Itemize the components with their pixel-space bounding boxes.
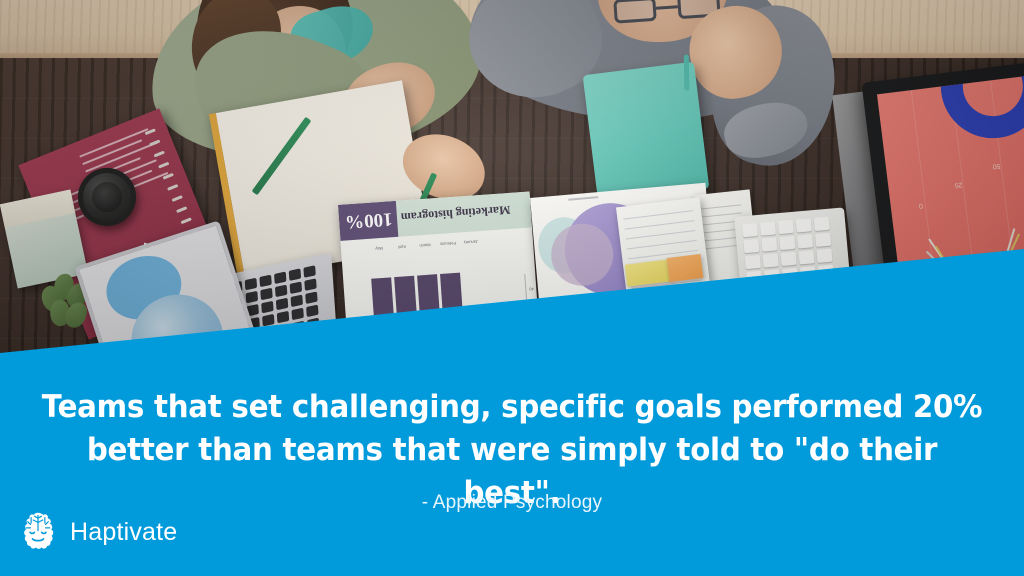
teal-notebook	[583, 62, 710, 203]
brain-smiling-icon	[16, 510, 60, 554]
histogram-x-labels: May April March February January	[369, 239, 481, 252]
orange-sticky-note	[667, 254, 704, 282]
histogram-title: Marketing histogram	[400, 202, 510, 225]
coffee-cup-lid	[78, 168, 136, 226]
brand-logo[interactable]: Haptivate	[16, 510, 177, 554]
histogram-percent-label: 100%	[344, 207, 393, 232]
brand-name: Haptivate	[70, 518, 177, 547]
quote-card: 0 25 50 75	[0, 0, 1024, 576]
